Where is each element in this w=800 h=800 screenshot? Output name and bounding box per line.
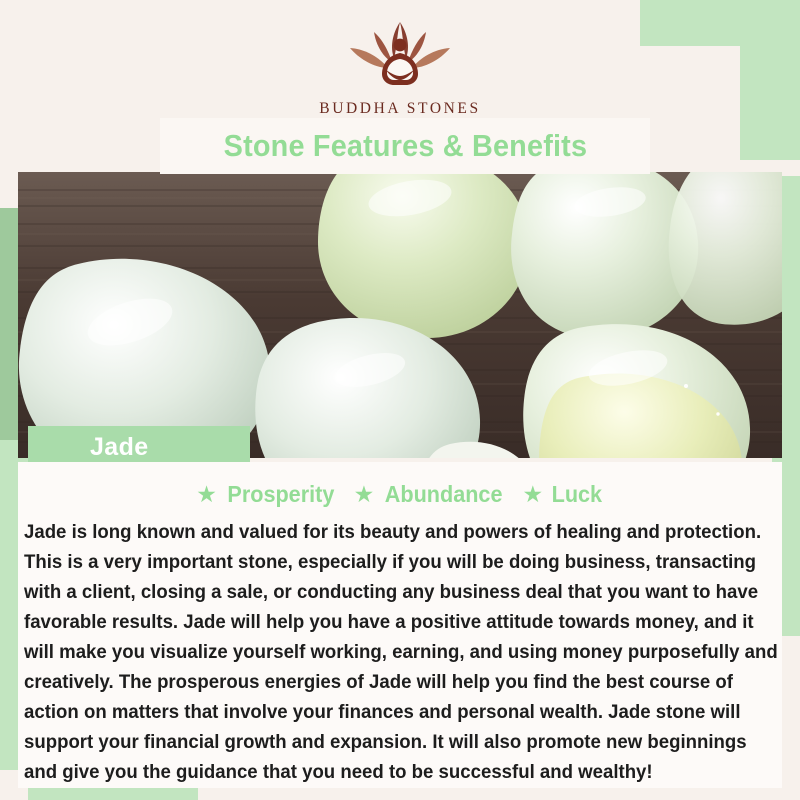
page-title: Stone Features & Benefits: [223, 128, 587, 164]
content-panel: ★ Prosperity ★ Abundance ★ Luck Jade is …: [18, 462, 782, 788]
lotus-meditation-icon: [334, 18, 466, 96]
decor-green-bottom-left: [28, 788, 198, 800]
benefits-list: ★ Prosperity ★ Abundance ★ Luck: [18, 462, 782, 514]
stone-photo: [18, 172, 782, 458]
benefit-label: Luck: [552, 481, 602, 508]
star-icon: ★: [196, 483, 217, 506]
decor-green-left-strip: [0, 208, 18, 458]
benefit-item: ★ Prosperity: [196, 481, 337, 508]
star-icon: ★: [522, 483, 543, 506]
infographic-card: BUDDHA STONES: [0, 0, 800, 800]
section-title-plate: Stone Features & Benefits: [160, 118, 650, 174]
brand-name: BUDDHA STONES: [319, 100, 480, 118]
stone-description: Jade is long known and valued for its be…: [24, 518, 781, 788]
benefit-label: Prosperity: [227, 481, 334, 508]
benefit-item: ★ Luck: [522, 481, 603, 508]
benefit-label: Abundance: [385, 481, 503, 508]
stone-name: Jade: [90, 433, 149, 462]
star-icon: ★: [354, 483, 375, 506]
brand-logo: BUDDHA STONES: [0, 18, 800, 118]
benefit-item: ★ Abundance: [354, 481, 507, 508]
